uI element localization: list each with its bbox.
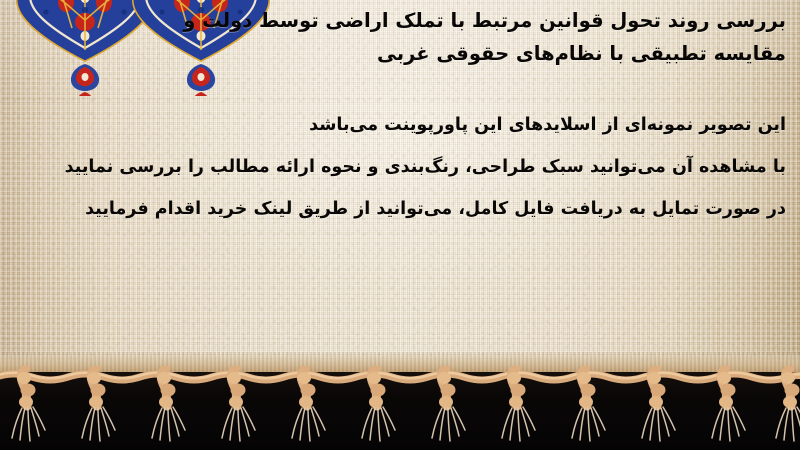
- carpet-tassel: [276, 366, 338, 450]
- slide-title: بررسی روند تحول قوانین مرتبط با تملک ارا…: [16, 4, 786, 70]
- slide-body-line-3: در صورت تمایل به دریافت فایل کامل، می‌تو…: [16, 188, 786, 230]
- slide-body-line-1: این تصویر نمونه‌ای از اسلایدهای این پاور…: [16, 104, 786, 146]
- carpet-tassel: [346, 366, 408, 450]
- carpet-tassel: [416, 366, 478, 450]
- carpet-tassel: [0, 366, 58, 450]
- slide-text-block: بررسی روند تحول قوانین مرتبط با تملک ارا…: [0, 0, 800, 372]
- carpet-tassel-group: [0, 366, 800, 450]
- carpet-tassel: [486, 366, 548, 450]
- carpet-tassel: [66, 366, 128, 450]
- slide-body: این تصویر نمونه‌ای از اسلایدهای این پاور…: [16, 104, 786, 230]
- carpet-tassel: [626, 366, 688, 450]
- presentation-slide: بررسی روند تحول قوانین مرتبط با تملک ارا…: [0, 0, 800, 450]
- carpet-tassel: [206, 366, 268, 450]
- slide-body-line-2: با مشاهده آن می‌توانید سبک طراحی، رنگ‌بن…: [16, 146, 786, 188]
- carpet-tassel: [556, 366, 618, 450]
- slide-title-line-2: مقایسه تطبیقی با نظام‌های حقوقی غربی: [16, 37, 786, 70]
- carpet-tassel: [136, 366, 198, 450]
- carpet-tassel: [760, 366, 800, 450]
- slide-title-line-1: بررسی روند تحول قوانین مرتبط با تملک ارا…: [16, 4, 786, 37]
- carpet-tassel: [696, 366, 758, 450]
